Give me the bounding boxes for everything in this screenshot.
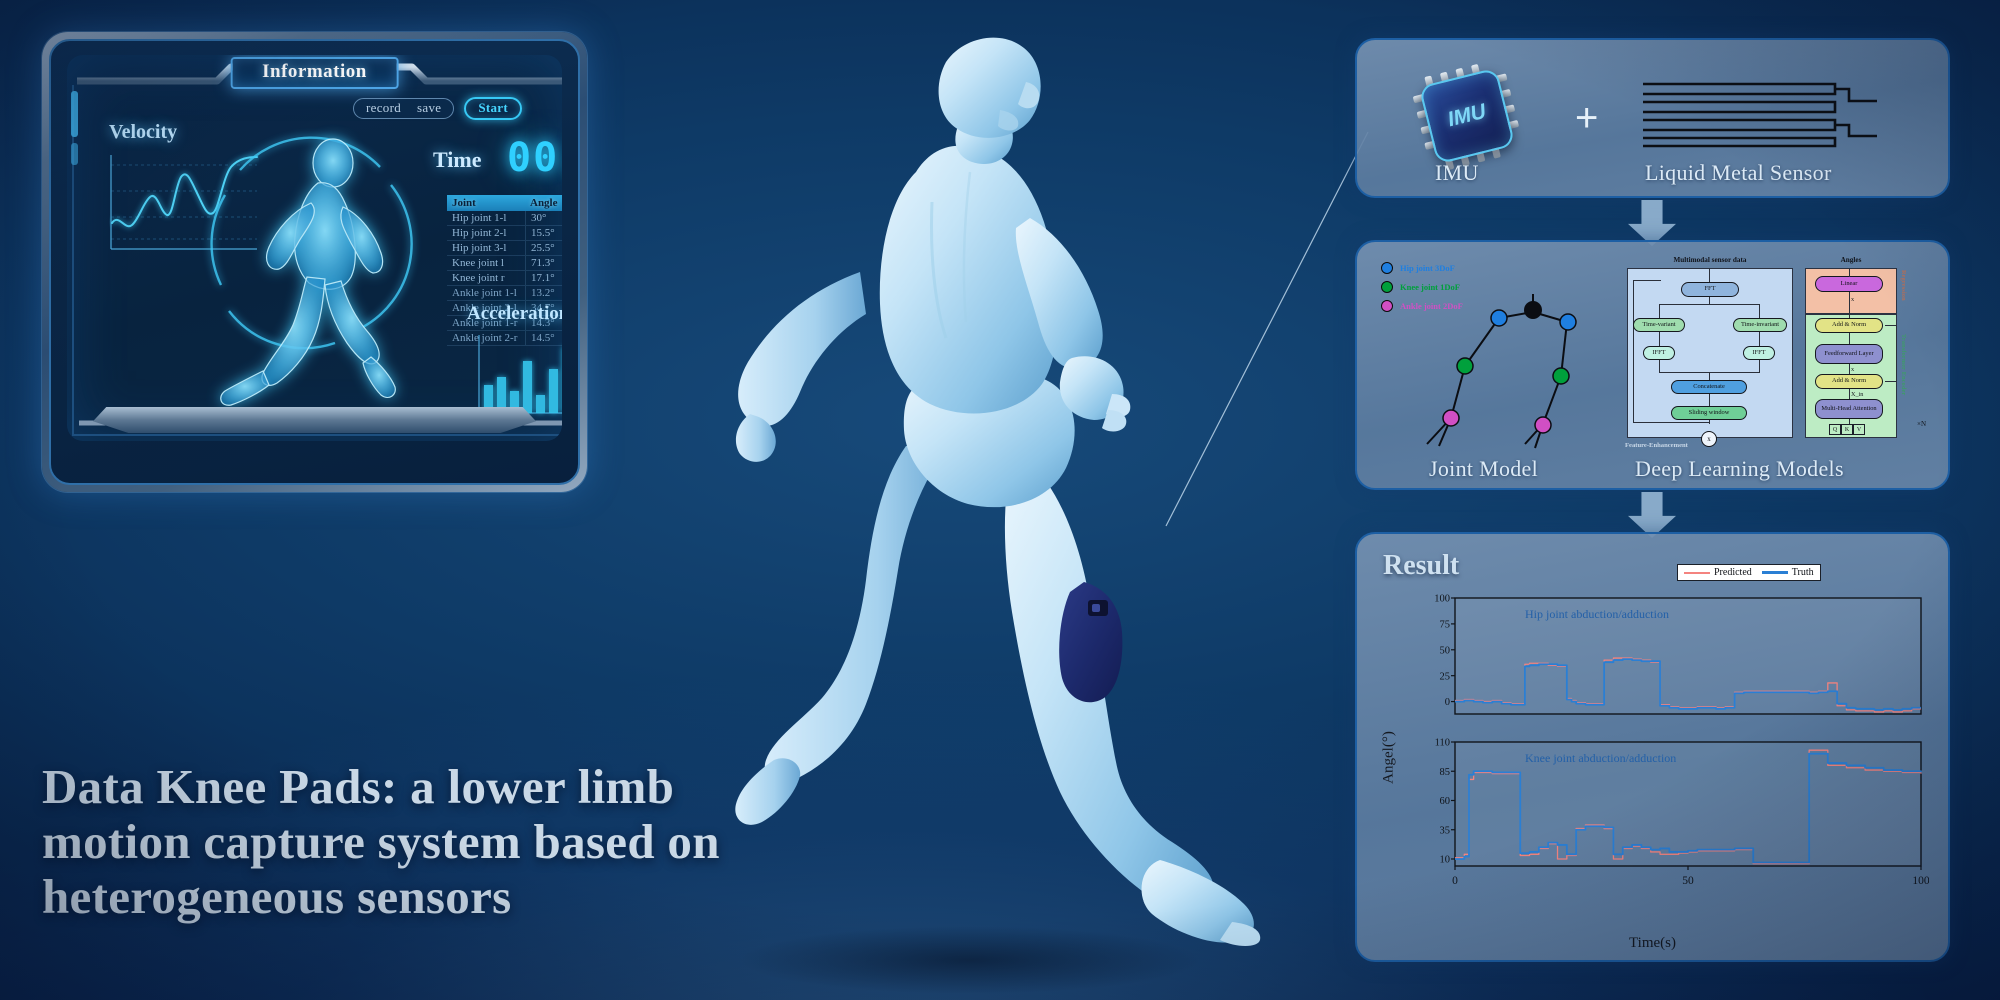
table-header-row: Joint Angle	[447, 195, 562, 211]
chart-legend: Predicted Truth	[1677, 564, 1821, 581]
imu-chip-text: IMU	[1445, 100, 1488, 133]
record-button[interactable]: record	[366, 100, 401, 116]
cell-angle: 30°	[525, 211, 562, 225]
transformer-side-label: Transformer Encoder	[1900, 334, 1907, 395]
col-header-joint: Joint	[447, 195, 525, 211]
cell-joint: Hip joint 2-l	[447, 226, 525, 240]
time-value: 00.00	[507, 135, 562, 181]
imu-label: IMU	[1435, 160, 1479, 186]
svg-text:0: 0	[1452, 875, 1458, 887]
table-row: Hip joint 2-l15.5°	[447, 226, 562, 241]
svg-text:75: 75	[1440, 619, 1451, 630]
x-label-mid: x	[1851, 366, 1854, 373]
plus-icon: +	[1575, 96, 1598, 141]
qkv-row: Q K V	[1829, 424, 1865, 435]
deep-learning-models-label: Deep Learning Models	[1635, 456, 1844, 482]
x-axis-title: Time(s)	[1357, 935, 1948, 952]
svg-text:110: 110	[1435, 738, 1450, 749]
svg-text:35: 35	[1440, 825, 1451, 836]
k-cell: K	[1841, 424, 1853, 435]
joint-model-skeleton	[1365, 258, 1615, 454]
feedforward-box: Feedforward Layer	[1815, 344, 1883, 364]
cell-joint: Hip joint 3-l	[447, 241, 525, 255]
multi-head-attention-box: Multi-Head Attention	[1815, 399, 1883, 419]
time-invariant-box: Time-invariant	[1733, 318, 1787, 332]
sliding-window-box: Sliding window	[1671, 406, 1747, 420]
legend-label-truth: Truth	[1792, 567, 1814, 578]
legend-label-predicted: Predicted	[1714, 567, 1752, 578]
col-header-angle: Angle	[525, 195, 562, 211]
svg-text:0: 0	[1445, 697, 1450, 708]
velocity-chart	[109, 151, 259, 259]
cell-angle: 71.3°	[525, 256, 562, 270]
deep-learning-diagram: Multimodal sensor data Angles FFT Time-v…	[1619, 256, 1937, 452]
ifft-left-box: IFFT	[1643, 346, 1675, 360]
liquid-metal-sensor-label: Liquid Metal Sensor	[1645, 160, 1832, 186]
title-line-1: Data Knee Pads: a lower limb	[42, 760, 1102, 815]
svg-text:50: 50	[1682, 875, 1694, 887]
fft-box: FFT	[1681, 282, 1739, 297]
sensors-panel: IMU + IMU Liquid Metal Sensor	[1355, 38, 1950, 198]
result-panel: Result Predicted Truth Angel(°) Time(s) …	[1355, 532, 1950, 962]
cell-joint: Knee joint l	[447, 256, 525, 270]
svg-text:60: 60	[1440, 796, 1451, 807]
q-cell: Q	[1829, 424, 1841, 435]
hud-base-plate	[93, 407, 536, 433]
legend-item-predicted: Predicted	[1684, 567, 1752, 578]
hud-title: Information	[230, 57, 399, 89]
hud-button-group: record save Start	[353, 97, 522, 120]
diagram-col-header-sensor: Multimodal sensor data	[1627, 256, 1793, 264]
svg-text:Hip joint abduction/adduction: Hip joint abduction/adduction	[1525, 607, 1669, 621]
models-panel: Hip joint 3DoF Knee joint 1DoF Ankle joi…	[1355, 240, 1950, 490]
cell-joint: Hip joint 1-l	[447, 211, 525, 225]
cell-joint: Ankle joint 1-l	[447, 286, 525, 300]
regression-side-label: Regression	[1900, 270, 1907, 301]
v-cell: V	[1853, 424, 1865, 435]
cell-joint: Knee joint r	[447, 271, 525, 285]
x-label-top: x	[1851, 296, 1854, 303]
save-button[interactable]: save	[417, 100, 441, 116]
table-row: Knee joint r17.1°	[447, 271, 562, 286]
time-label: Time	[433, 147, 481, 173]
cell-angle: 17.1°	[525, 271, 562, 285]
truth-line-swatch	[1762, 571, 1788, 574]
svg-text:Knee joint abduction/adduction: Knee joint abduction/adduction	[1525, 751, 1676, 765]
cell-angle: 25.5°	[525, 241, 562, 255]
acceleration-label: Acceleration	[467, 303, 562, 325]
joint-model-label: Joint Model	[1429, 456, 1538, 482]
repeat-n-label: ×N	[1917, 420, 1926, 428]
start-button[interactable]: Start	[464, 97, 522, 120]
title-line-3: heterogeneous sensors	[42, 870, 1102, 925]
hud-inner-bezel: Information record save Start Velocity T…	[49, 39, 580, 485]
y-axis-title: Angel(°)	[1381, 731, 1398, 784]
feature-enhancement-caption: Feature-Enhancement	[1625, 442, 1688, 449]
table-row: Hip joint 3-l25.5°	[447, 241, 562, 256]
table-row: Hip joint 1-l30°	[447, 211, 562, 226]
result-charts: 0255075100Hip joint abduction/adduction1…	[1409, 594, 1929, 924]
x-in-label: X_in	[1851, 391, 1863, 398]
table-row: Ankle joint 1-l13.2°	[447, 286, 562, 301]
title-line-2: motion capture system based on	[42, 815, 1102, 870]
svg-text:50: 50	[1440, 645, 1451, 656]
diagram-col-header-angles: Angles	[1805, 256, 1897, 264]
record-save-group[interactable]: record save	[353, 98, 454, 119]
ifft-right-box: IFFT	[1743, 346, 1775, 360]
liquid-metal-sensor-icon	[1639, 76, 1879, 154]
result-title: Result	[1383, 550, 1459, 582]
time-variant-box: Time-variant	[1633, 318, 1685, 332]
acceleration-bar-chart	[475, 333, 562, 419]
elementwise-multiply-icon: x	[1701, 431, 1717, 447]
svg-text:85: 85	[1440, 767, 1451, 778]
legend-item-truth: Truth	[1762, 567, 1814, 578]
svg-text:100: 100	[1434, 594, 1450, 605]
svg-text:100: 100	[1912, 875, 1929, 887]
svg-text:10: 10	[1440, 855, 1451, 866]
hud-information-panel: Information record save Start Velocity T…	[42, 32, 587, 492]
add-norm-bottom-box: Add & Norm	[1815, 374, 1883, 389]
page-title: Data Knee Pads: a lower limb motion capt…	[42, 760, 1102, 925]
cell-angle: 13.2°	[525, 286, 562, 300]
predicted-line-swatch	[1684, 572, 1710, 574]
cell-angle: 15.5°	[525, 226, 562, 240]
svg-text:25: 25	[1440, 671, 1451, 682]
velocity-label: Velocity	[109, 121, 177, 144]
table-row: Knee joint l71.3°	[447, 256, 562, 271]
linear-box: Linear	[1815, 276, 1883, 292]
add-norm-top-box: Add & Norm	[1815, 318, 1883, 333]
imu-chip-icon: IMU	[1409, 58, 1525, 174]
hud-screen: Information record save Start Velocity T…	[67, 55, 562, 441]
concatenate-box: Concatenate	[1671, 380, 1747, 394]
